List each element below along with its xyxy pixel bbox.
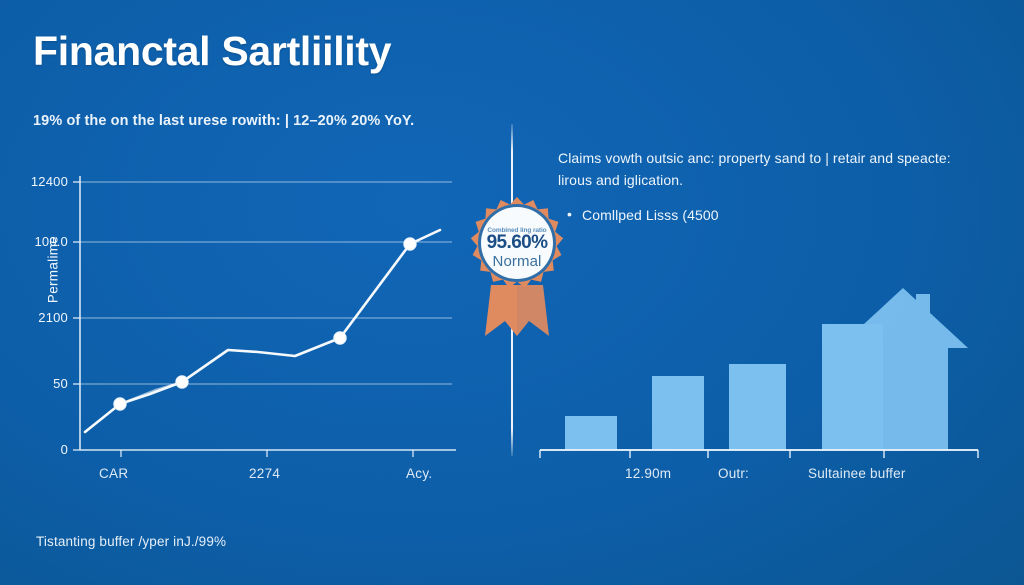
bar-1 (652, 376, 704, 450)
x-tick-label-1: 2274 (249, 466, 280, 481)
slide-canvas: Financtal Sartliility 19% of the on the … (0, 0, 1024, 585)
bar-chart-bars (565, 324, 883, 450)
subtitle-text: 19% of the on the last urese rowith: | 1… (33, 113, 414, 129)
bar-3 (822, 324, 883, 450)
bar-0 (565, 416, 617, 450)
x-tick-label-0: CAR (99, 466, 128, 481)
line-chart (0, 160, 512, 470)
y-tick-label-3: 50 (0, 376, 68, 391)
bar-x-label-0: 12.90m (625, 466, 671, 481)
bar-chart-ticks (540, 450, 978, 458)
y-axis-title: Permalime (46, 210, 61, 330)
footer-note: Tistanting buffer /yper inJ./99% (36, 534, 226, 549)
line-chart-series-shadow (85, 382, 182, 432)
line-chart-axes (80, 176, 456, 450)
line-chart-ticks (73, 182, 413, 457)
y-tick-label-0: 12400 (0, 174, 68, 189)
bar-x-label-2: Sultainee buffer (808, 466, 906, 481)
bar-chart (512, 160, 1024, 470)
page-title: Financtal Sartliility (33, 28, 391, 75)
x-tick-label-2: Acy. (406, 466, 432, 481)
bar-x-label-1: Outr: (718, 466, 749, 481)
line-chart-series (85, 230, 440, 432)
y-tick-label-4: 0 (0, 442, 68, 457)
bar-2 (729, 364, 786, 450)
